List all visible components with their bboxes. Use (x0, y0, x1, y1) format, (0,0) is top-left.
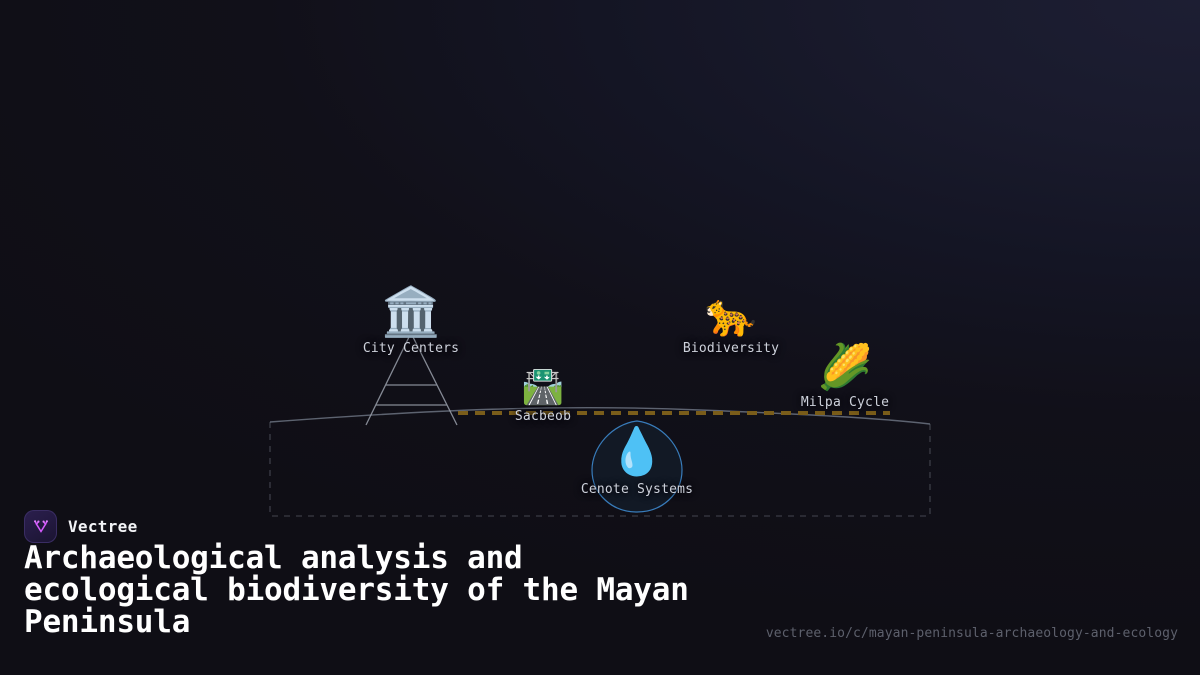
classical-building-icon: 🏛️ (381, 288, 441, 336)
vectree-tree-logo-icon (24, 510, 57, 543)
graph-node-milpa-cycle[interactable]: 🌽 Milpa Cycle (745, 346, 945, 410)
poster-canvas: 🏛️ City Centers 🛣️ Sacbeob 🐆 Biodiversit… (0, 0, 1200, 675)
graph-node-label: Milpa Cycle (801, 395, 889, 410)
brand-lockup[interactable]: Vectree (24, 510, 138, 543)
graph-node-city-centers[interactable]: 🏛️ City Centers (311, 288, 511, 356)
brand-name: Vectree (68, 517, 138, 536)
page-title: Archaeological analysis and ecological b… (24, 542, 724, 638)
footer: Vectree Archaeological analysis and ecol… (0, 500, 1200, 675)
graph-node-label: Cenote Systems (581, 482, 693, 497)
graph-node-label: Sacbeob (515, 409, 571, 424)
graph-node-cenote-systems[interactable]: 💧 Cenote Systems (537, 428, 737, 497)
page-url: vectree.io/c/mayan-peninsula-archaeology… (766, 626, 1178, 641)
graph-node-label: City Centers (363, 341, 459, 356)
leopard-icon: 🐆 (705, 294, 757, 336)
graph-node-sacbeob[interactable]: 🛣️ Sacbeob (443, 370, 643, 424)
droplet-icon: 💧 (608, 428, 665, 474)
motorway-icon: 🛣️ (522, 370, 564, 404)
corn-icon: 🌽 (818, 346, 873, 390)
